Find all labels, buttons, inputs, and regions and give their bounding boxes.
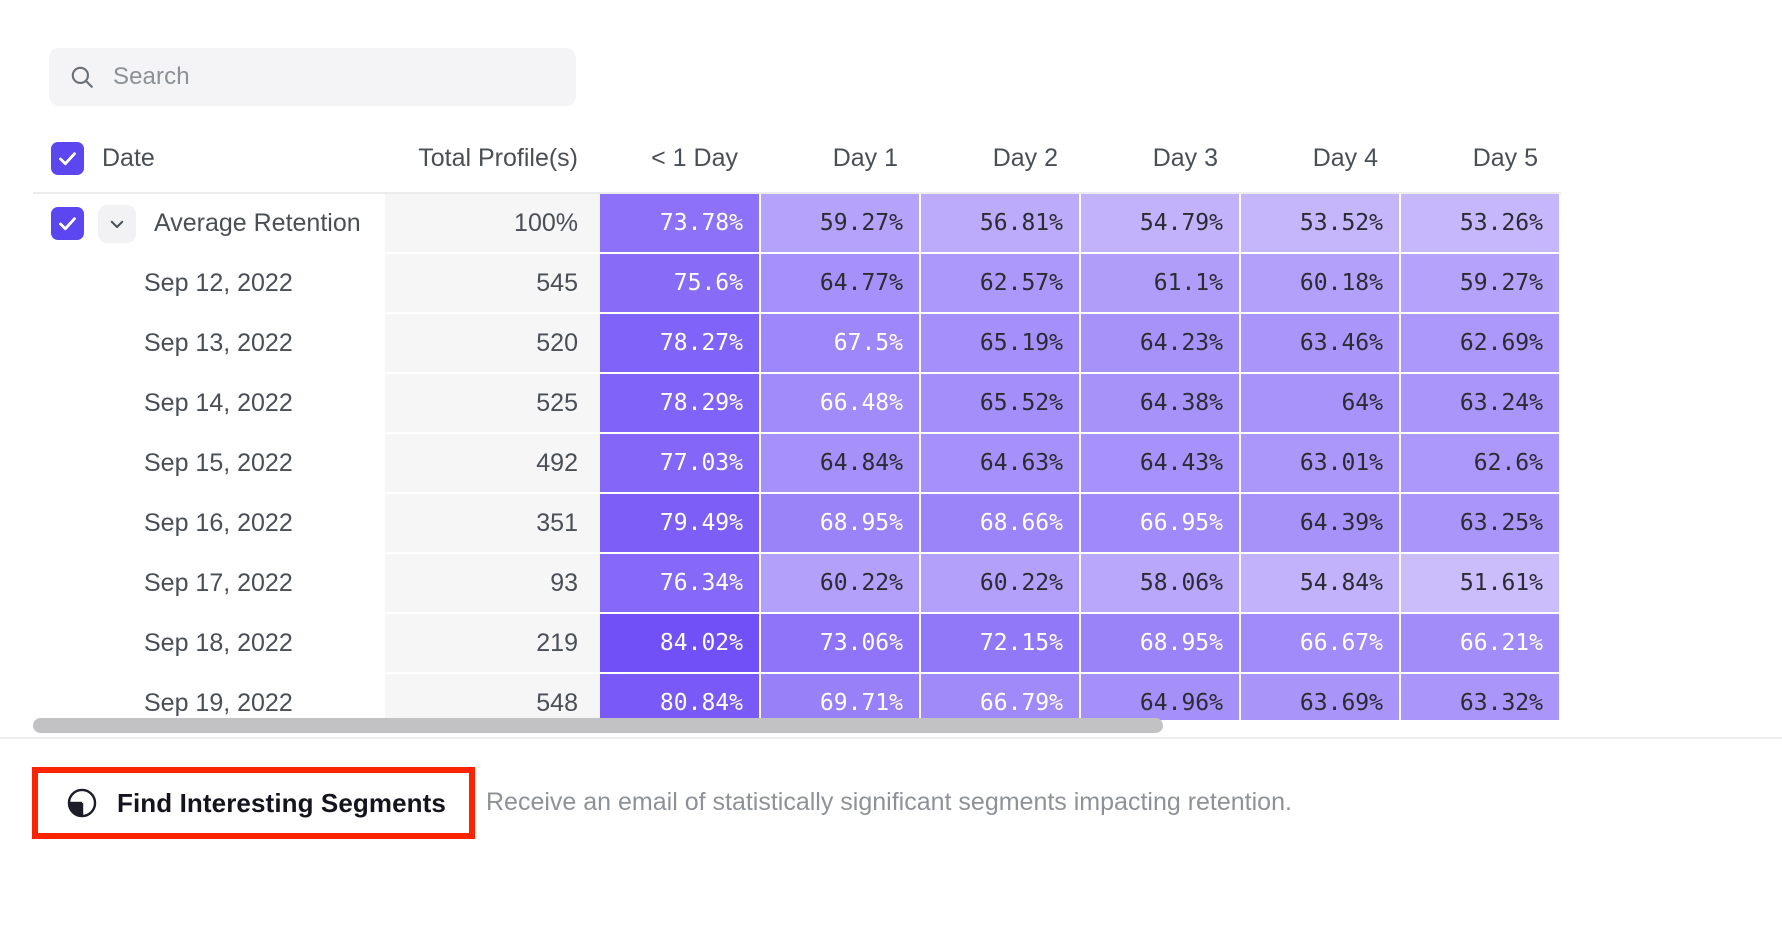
row-date-label: Sep 17, 2022	[144, 569, 293, 598]
table-row: Sep 17, 20229376.34%60.22%60.22%58.06%54…	[33, 553, 1560, 613]
row-date-cell: Sep 14, 2022	[33, 373, 385, 433]
select-all-checkbox[interactable]	[51, 142, 84, 175]
retention-cell: 73.78%	[600, 193, 760, 253]
segment-pie-icon	[65, 786, 99, 820]
retention-cell: 62.6%	[1400, 433, 1560, 493]
search-input[interactable]: Search	[49, 48, 576, 106]
retention-cell: 60.22%	[920, 553, 1080, 613]
row-checkbox[interactable]	[51, 207, 84, 240]
retention-cell: 53.26%	[1400, 193, 1560, 253]
header-day-1: Day 1	[760, 125, 920, 193]
row-date-cell: Average Retention	[33, 193, 385, 253]
retention-cell: 64.39%	[1240, 493, 1400, 553]
retention-cell: 72.15%	[920, 613, 1080, 673]
header-total-profiles: Total Profile(s)	[385, 125, 600, 193]
retention-table: Date Total Profile(s) < 1 DayDay 1Day 2D…	[33, 125, 1561, 720]
retention-cell: 84.02%	[600, 613, 760, 673]
retention-cell: 65.52%	[920, 373, 1080, 433]
retention-cell: 64.38%	[1080, 373, 1240, 433]
retention-cell: 64.43%	[1080, 433, 1240, 493]
row-total-profiles: 525	[385, 373, 600, 433]
retention-cell: 59.27%	[760, 193, 920, 253]
header-row: Date Total Profile(s) < 1 DayDay 1Day 2D…	[33, 125, 1560, 193]
retention-cell: 64%	[1240, 373, 1400, 433]
retention-cell: 80.84%	[600, 673, 760, 720]
retention-cell: 51.61%	[1400, 553, 1560, 613]
search-row: Search	[49, 48, 576, 106]
table-row: Sep 19, 202254880.84%69.71%66.79%64.96%6…	[33, 673, 1560, 720]
table-row: Average Retention100%73.78%59.27%56.81%5…	[33, 193, 1560, 253]
retention-cell: 63.46%	[1240, 313, 1400, 373]
header-day-4: Day 4	[1240, 125, 1400, 193]
retention-cell: 60.22%	[760, 553, 920, 613]
retention-cell: 65.19%	[920, 313, 1080, 373]
retention-cell: 64.84%	[760, 433, 920, 493]
header-date-label: Date	[102, 144, 155, 173]
row-date-label: Sep 19, 2022	[144, 689, 293, 718]
retention-cell: 54.84%	[1240, 553, 1400, 613]
find-interesting-segments-button[interactable]: Find Interesting Segments	[38, 773, 469, 833]
table-row: Sep 15, 202249277.03%64.84%64.63%64.43%6…	[33, 433, 1560, 493]
table-row: Sep 14, 202252578.29%66.48%65.52%64.38%6…	[33, 373, 1560, 433]
retention-cell: 79.49%	[600, 493, 760, 553]
retention-cell: 59.27%	[1400, 253, 1560, 313]
retention-table-container: Date Total Profile(s) < 1 DayDay 1Day 2D…	[0, 125, 1782, 720]
retention-cell: 56.81%	[920, 193, 1080, 253]
row-total-profiles: 520	[385, 313, 600, 373]
find-segments-highlight-box: Find Interesting Segments	[32, 767, 475, 839]
search-placeholder: Search	[113, 63, 190, 91]
row-date-label: Sep 16, 2022	[144, 509, 293, 538]
row-total-profiles: 351	[385, 493, 600, 553]
row-date-cell: Sep 17, 2022	[33, 553, 385, 613]
row-total-profiles: 219	[385, 613, 600, 673]
row-date-cell: Sep 15, 2022	[33, 433, 385, 493]
row-total-profiles: 548	[385, 673, 600, 720]
retention-cell: 64.63%	[920, 433, 1080, 493]
retention-cell: 78.29%	[600, 373, 760, 433]
row-date-label: Sep 18, 2022	[144, 629, 293, 658]
horizontal-scrollbar-thumb[interactable]	[33, 718, 1163, 733]
retention-cell: 76.34%	[600, 553, 760, 613]
table-row: Sep 12, 202254575.6%64.77%62.57%61.1%60.…	[33, 253, 1560, 313]
header-day-3: Day 3	[1080, 125, 1240, 193]
retention-cell: 61.1%	[1080, 253, 1240, 313]
row-date-label: Sep 14, 2022	[144, 389, 293, 418]
table-row: Sep 18, 202221984.02%73.06%72.15%68.95%6…	[33, 613, 1560, 673]
retention-cell: 73.06%	[760, 613, 920, 673]
retention-cell: 62.69%	[1400, 313, 1560, 373]
retention-cell: 64.23%	[1080, 313, 1240, 373]
retention-cell: 66.48%	[760, 373, 920, 433]
retention-cell: 78.27%	[600, 313, 760, 373]
retention-cell: 69.71%	[760, 673, 920, 720]
row-total-profiles: 492	[385, 433, 600, 493]
row-date-cell: Sep 13, 2022	[33, 313, 385, 373]
retention-cell: 63.25%	[1400, 493, 1560, 553]
row-date-label: Average Retention	[154, 209, 361, 238]
header-day-2: Day 2	[920, 125, 1080, 193]
table-header: Date Total Profile(s) < 1 DayDay 1Day 2D…	[33, 125, 1560, 193]
retention-cell: 64.77%	[760, 253, 920, 313]
row-date-cell: Sep 12, 2022	[33, 253, 385, 313]
header-day-0: < 1 Day	[600, 125, 760, 193]
row-total-profiles: 93	[385, 553, 600, 613]
retention-cell: 63.69%	[1240, 673, 1400, 720]
retention-cell: 64.96%	[1080, 673, 1240, 720]
row-date-cell: Sep 16, 2022	[33, 493, 385, 553]
retention-cell: 66.79%	[920, 673, 1080, 720]
retention-cell: 67.5%	[760, 313, 920, 373]
footer: Find Interesting Segments Receive an ema…	[0, 739, 1782, 930]
retention-cell: 66.21%	[1400, 613, 1560, 673]
table-row: Sep 13, 202252078.27%67.5%65.19%64.23%63…	[33, 313, 1560, 373]
row-date-label: Sep 12, 2022	[144, 269, 293, 298]
row-date-cell: Sep 18, 2022	[33, 613, 385, 673]
chevron-down-icon[interactable]	[98, 205, 136, 243]
retention-cell: 75.6%	[600, 253, 760, 313]
retention-cell: 68.66%	[920, 493, 1080, 553]
retention-cell: 77.03%	[600, 433, 760, 493]
retention-cell: 54.79%	[1080, 193, 1240, 253]
search-icon	[69, 64, 95, 90]
retention-cell: 63.24%	[1400, 373, 1560, 433]
find-segments-label: Find Interesting Segments	[117, 788, 446, 819]
table-row: Sep 16, 202235179.49%68.95%68.66%66.95%6…	[33, 493, 1560, 553]
retention-cell: 63.01%	[1240, 433, 1400, 493]
header-day-5: Day 5	[1400, 125, 1560, 193]
retention-cell: 68.95%	[760, 493, 920, 553]
retention-cell: 58.06%	[1080, 553, 1240, 613]
retention-cell: 63.32%	[1400, 673, 1560, 720]
row-total-profiles: 545	[385, 253, 600, 313]
row-date-label: Sep 15, 2022	[144, 449, 293, 478]
retention-cell: 66.95%	[1080, 493, 1240, 553]
retention-cell: 53.52%	[1240, 193, 1400, 253]
row-total-profiles: 100%	[385, 193, 600, 253]
horizontal-scrollbar-track[interactable]	[0, 715, 1782, 737]
retention-cell: 68.95%	[1080, 613, 1240, 673]
retention-cell: 62.57%	[920, 253, 1080, 313]
header-date: Date	[33, 125, 385, 193]
retention-cell: 66.67%	[1240, 613, 1400, 673]
retention-cell: 60.18%	[1240, 253, 1400, 313]
table-body: Average Retention100%73.78%59.27%56.81%5…	[33, 193, 1560, 720]
footer-description: Receive an email of statistically signif…	[486, 788, 1292, 817]
row-date-cell: Sep 19, 2022	[33, 673, 385, 720]
row-date-label: Sep 13, 2022	[144, 329, 293, 358]
